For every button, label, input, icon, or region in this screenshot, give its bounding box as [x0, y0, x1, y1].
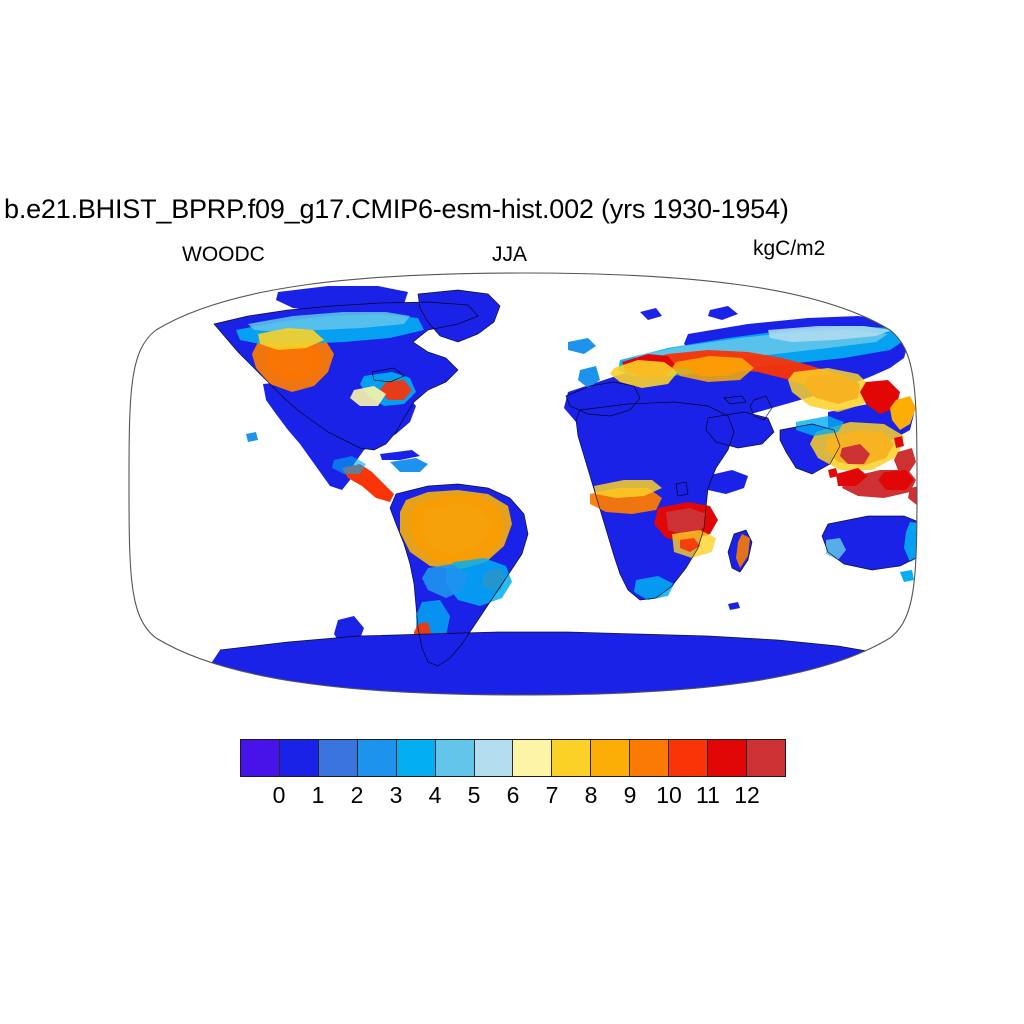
colorbar-cell-6: [475, 740, 514, 776]
colorbar-cell-5: [436, 740, 475, 776]
colorbar-tick-12: 12: [734, 781, 760, 809]
colorbar-cell-8: [552, 740, 591, 776]
page-title: b.e21.BHIST_BPRP.f09_g17.CMIP6-esm-hist.…: [4, 193, 1022, 225]
colorbar-cell-7: [513, 740, 552, 776]
units-label: kgC/m2: [753, 237, 825, 261]
colorbar-cell-0: [241, 740, 280, 776]
colorbar-tick-9: 9: [624, 781, 637, 809]
colorbar-cell-13: [747, 740, 785, 776]
colorbar-tick-labels: 0123456789101112: [240, 781, 786, 811]
colorbar-tick-3: 3: [390, 781, 403, 809]
colorbar-tick-2: 2: [351, 781, 364, 809]
colorbar-tick-8: 8: [585, 781, 598, 809]
colorbar-tick-7: 7: [546, 781, 559, 809]
colorbar-tick-4: 4: [429, 781, 442, 809]
colorbar-cell-10: [630, 740, 669, 776]
figure-canvas: b.e21.BHIST_BPRP.f09_g17.CMIP6-esm-hist.…: [0, 0, 1024, 1024]
colorbar-cell-1: [280, 740, 319, 776]
map-svg: [128, 272, 918, 696]
colorbar-cell-11: [669, 740, 708, 776]
world-map-plot: [128, 272, 918, 696]
colorbar-tick-5: 5: [468, 781, 481, 809]
colorbar-tick-6: 6: [507, 781, 520, 809]
colorbar-tick-11: 11: [696, 781, 720, 809]
colorbar-tick-10: 10: [656, 781, 682, 809]
colorbar-tick-1: 1: [312, 781, 325, 809]
colorbar-cell-2: [319, 740, 358, 776]
colorbar: [240, 739, 786, 777]
variable-label: WOODC: [182, 243, 265, 267]
season-label: JJA: [492, 243, 527, 267]
colorbar-cell-4: [397, 740, 436, 776]
colorbar-cell-3: [358, 740, 397, 776]
colorbar-cell-9: [591, 740, 630, 776]
colorbar-swatches: [240, 739, 786, 777]
colorbar-cell-12: [708, 740, 747, 776]
colorbar-tick-0: 0: [273, 781, 286, 809]
